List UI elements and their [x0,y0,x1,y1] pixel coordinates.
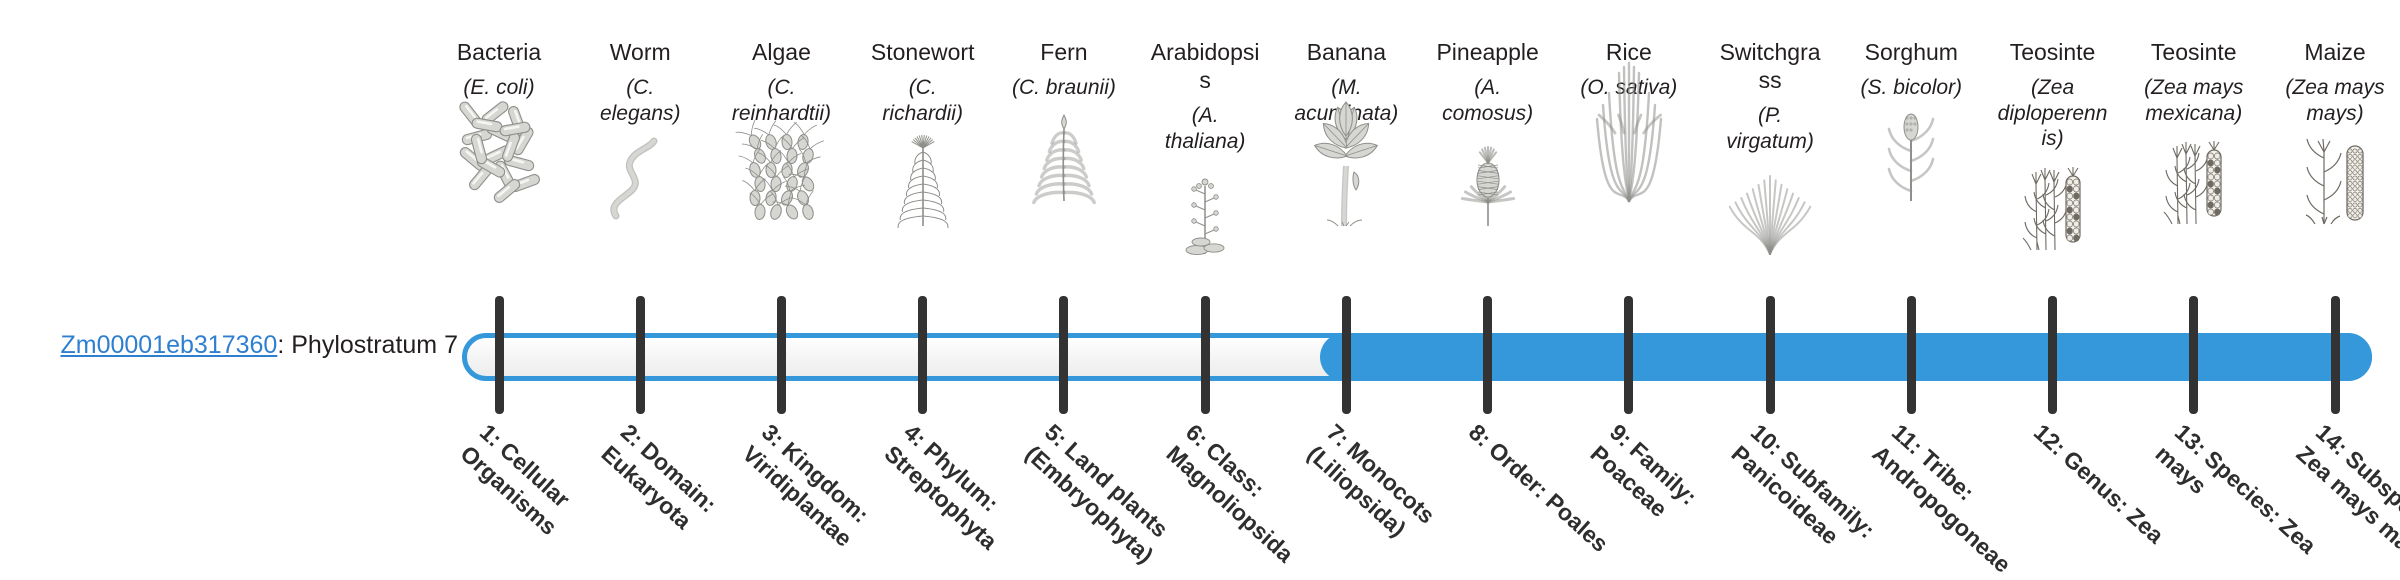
species-scientific-name: (Zea mays mays) [2279,75,2391,126]
species-column: Teosinte(Zea diploperennis) [1997,0,2109,254]
bacteria-illustration [443,107,555,203]
species-common-name: Worm [584,38,696,66]
species-column: Bacteria(E. coli) [443,0,555,203]
species-column: Rice(O. sativa) [1573,0,1685,203]
species-common-name: Arabidopsis [1149,38,1261,94]
species-common-name: Algae [725,38,837,66]
sorghum-illustration [1855,107,1967,203]
species-column: Pineapple(A. comosus) [1432,0,1544,228]
species-scientific-name: (S. bicolor) [1855,75,1967,101]
species-scientific-name: (C. reinhardtii) [725,75,837,126]
species-scientific-name: (C. richardii) [867,75,979,126]
rice-plant-illustration [1573,107,1685,203]
species-scientific-name: (C. elegans) [584,75,696,126]
species-common-name: Banana [1290,38,1402,66]
species-header-track: Bacteria(E. coli) [462,0,2372,310]
species-column: Stonewort(C. richardii) [867,0,979,228]
species-common-name: Stonewort [867,38,979,66]
species-column: Maize(Zea mays mays) [2279,0,2391,228]
teosinte-plant-and-ear-illustration [2138,132,2250,228]
phylostratum-figure: Zm00001eb317360: Phylostratum 7 Bacteria… [0,0,2400,580]
species-common-name: Teosinte [1997,38,2109,66]
rank-name: Family: Poaceae [1585,437,1702,523]
nematode-illustration [584,132,696,228]
species-common-name: Fern [1008,38,1120,66]
species-scientific-name: (A. thaliana) [1149,103,1261,154]
banana-plant-illustration [1290,132,1402,228]
species-common-name: Teosinte [2138,38,2250,66]
gene-phylostratum-label: Zm00001eb317360: Phylostratum 7 [38,330,458,360]
species-column: Teosinte(Zea mays mexicana) [2138,0,2250,228]
fern-illustration [1008,107,1120,203]
stonewort-illustration [867,132,979,228]
algae-cells-illustration [725,132,837,228]
species-scientific-name: (Zea mays mexicana) [2138,75,2250,126]
pineapple-illustration [1432,132,1544,228]
taxonomic-rank-label-group: 1: Cellular Organisms2: Domain: Eukaryot… [462,418,2372,580]
switchgrass-illustration [1714,160,1826,256]
species-scientific-name: (E. coli) [443,75,555,101]
species-column: Arabidopsis(A. thaliana) [1149,0,1261,256]
rank-number: 12: [2028,419,2070,461]
rank-name: Domain: Eukaryota [596,437,721,535]
species-column: Banana(M. acuminata) [1290,0,1402,228]
species-scientific-name: (Zea diploperennis) [1997,75,2109,152]
gene-id-link[interactable]: Zm00001eb317360 [60,331,277,359]
species-column: Fern(C. braunii) [1008,0,1120,203]
species-column: Switchgrass(P. virgatum) [1714,0,1826,256]
species-column: Sorghum(S. bicolor) [1855,0,1967,203]
species-common-name: Sorghum [1855,38,1967,66]
species-common-name: Switchgrass [1714,38,1826,94]
progress-fill [1320,333,2372,381]
maize-plant-and-cob-illustration [2279,132,2391,228]
species-common-name: Pineapple [1432,38,1544,66]
teosinte-plant-and-ear-illustration [1997,158,2109,254]
species-common-name: Maize [2279,38,2391,66]
gene-label-separator: : [277,331,291,359]
species-common-name: Bacteria [443,38,555,66]
phylostratum-progress-bar [462,333,2372,381]
species-column: Worm(C. elegans) [584,0,696,228]
species-scientific-name: (A. comosus) [1432,75,1544,126]
rank-name: Cellular Organisms [455,437,575,541]
rank-name: Monocots (Liliopsida) [1303,437,1441,542]
species-scientific-name: (C. braunii) [1008,75,1120,101]
species-column: Algae(C. reinhardtii) [725,0,837,228]
arabidopsis-illustration [1149,160,1261,256]
phylostratum-value-text: Phylostratum 7 [291,331,458,359]
species-scientific-name: (P. virgatum) [1714,103,1826,154]
